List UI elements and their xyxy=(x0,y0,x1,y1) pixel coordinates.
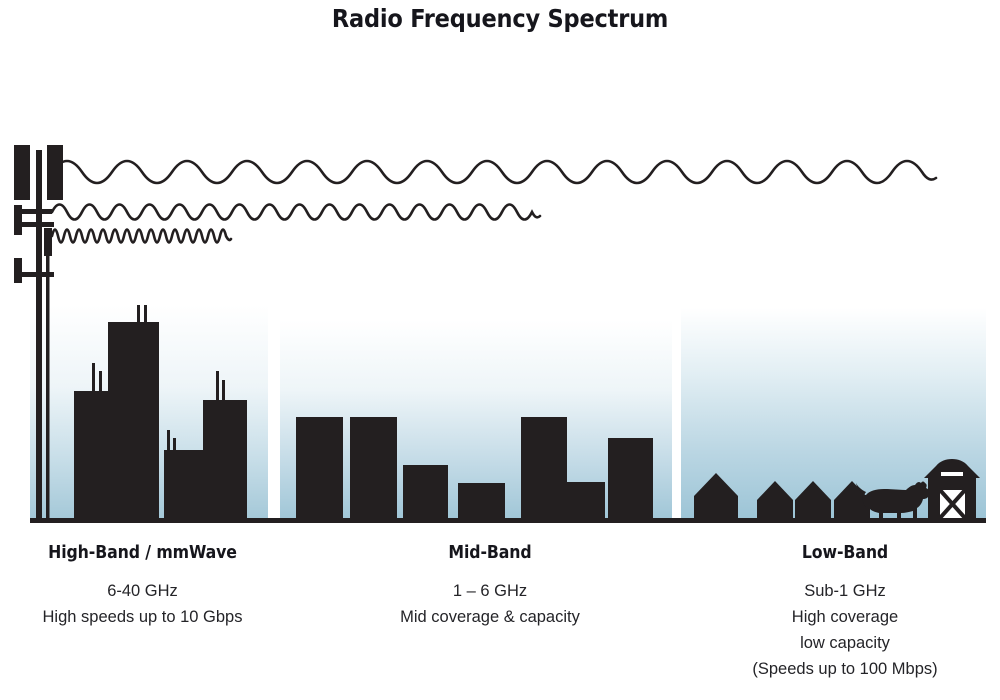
short-wavelength-wave xyxy=(52,230,231,243)
skyscraper-1-spire-short xyxy=(99,371,102,393)
band-column-mid-band: Mid-Band 1 – 6 GHz Mid coverage & capaci… xyxy=(350,543,630,630)
band-frequency-low-band: Sub-1 GHz xyxy=(690,578,1000,604)
band-body-low-band: Sub-1 GHz High coverage low capacity (Sp… xyxy=(690,578,1000,682)
tower-antenna-small-right xyxy=(44,228,52,256)
skyscraper-4 xyxy=(203,400,247,520)
skyscraper-2-spire-short xyxy=(144,302,147,324)
skyscraper-3-spire-short xyxy=(173,438,176,452)
tower-antenna-panel-right xyxy=(47,145,63,200)
band-heading-mid-band: Mid-Band xyxy=(350,543,630,563)
building-6 xyxy=(567,482,605,520)
infographic-canvas: Radio Frequency Spectrum xyxy=(0,0,1000,700)
building-5 xyxy=(521,417,567,520)
band-description-low-band-2: (Speeds up to 100 Mbps) xyxy=(690,656,1000,682)
long-wavelength-wave xyxy=(52,161,936,183)
barn-hayloft-window xyxy=(941,472,963,476)
band-body-high-band: 6-40 GHz High speeds up to 10 Gbps xyxy=(0,578,285,630)
band-column-high-band: High-Band / mmWave 6-40 GHz High speeds … xyxy=(0,543,285,630)
building-2 xyxy=(350,417,397,520)
skyscraper-2 xyxy=(108,322,159,520)
band-body-mid-band: 1 – 6 GHz Mid coverage & capacity xyxy=(350,578,630,630)
radio-waves xyxy=(52,161,936,243)
tower-crossarm-lower xyxy=(22,222,54,227)
band-frequency-mid-band: 1 – 6 GHz xyxy=(350,578,630,604)
tower-antenna-panel-left xyxy=(14,145,30,200)
barn-door xyxy=(938,488,967,520)
tower-antenna-bottom xyxy=(14,258,22,283)
building-4 xyxy=(458,483,505,520)
band-column-low-band: Low-Band Sub-1 GHz High coverage low cap… xyxy=(690,543,1000,682)
band-frequency-high-band: 6-40 GHz xyxy=(0,578,285,604)
tower-antenna-small-left xyxy=(14,205,22,235)
tower-mast xyxy=(36,150,42,520)
band-description-low-band-0: High coverage xyxy=(690,604,1000,630)
skyscraper-1-spire-tall xyxy=(92,363,95,393)
skyscraper-4-spire-short xyxy=(222,380,225,402)
band-description-mid-band-0: Mid coverage & capacity xyxy=(350,604,630,630)
band-description-high-band-0: High speeds up to 10 Gbps xyxy=(0,604,285,630)
band-label-row: High-Band / mmWave 6-40 GHz High speeds … xyxy=(0,543,1000,700)
building-3 xyxy=(403,465,448,520)
medium-wavelength-wave xyxy=(52,205,540,220)
band-heading-low-band: Low-Band xyxy=(690,543,1000,563)
building-7 xyxy=(608,438,653,520)
skyscraper-4-spire-tall xyxy=(216,371,219,402)
band-heading-high-band: High-Band / mmWave xyxy=(0,543,285,563)
band-description-low-band-1: low capacity xyxy=(690,630,1000,656)
ground-baseline xyxy=(30,518,986,523)
skyscraper-3-spire-tall xyxy=(167,430,170,452)
building-1 xyxy=(296,417,343,520)
skyscraper-2-spire-tall xyxy=(137,294,140,324)
